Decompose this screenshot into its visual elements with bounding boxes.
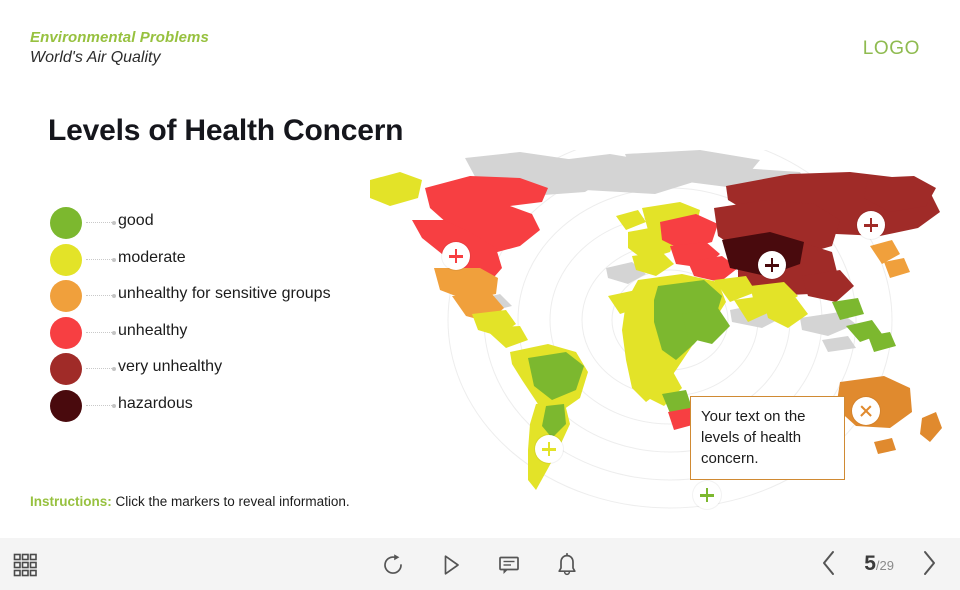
legend-swatch: [50, 280, 82, 312]
tooltip-text: Your text on the levels of health concer…: [701, 406, 834, 469]
page-title: Levels of Health Concern: [48, 114, 403, 148]
legend-item-moderate: moderate: [50, 242, 410, 279]
brand-subtitle: World's Air Quality: [30, 47, 209, 69]
map-marker-north-america[interactable]: [442, 242, 470, 270]
playback-controls: [378, 550, 582, 580]
slide-header: Environmental Problems World's Air Quali…: [0, 0, 960, 90]
legend-item-good: good: [50, 205, 410, 242]
legend-swatch: [50, 353, 82, 385]
legend-swatch: [50, 390, 82, 422]
legend-item-label: unhealthy: [118, 322, 187, 340]
legend-connector: [86, 405, 112, 407]
legend-swatch: [50, 317, 82, 349]
instructions-label: Instructions:: [30, 494, 112, 509]
bell-icon[interactable]: [552, 550, 582, 580]
brand-block: Environmental Problems World's Air Quali…: [30, 28, 209, 69]
brand-title: Environmental Problems: [30, 28, 209, 47]
map-marker-south-america[interactable]: [535, 435, 563, 463]
map-marker-russia[interactable]: [857, 211, 885, 239]
play-icon[interactable]: [436, 550, 466, 580]
bottom-toolbar: 5/29: [0, 538, 960, 590]
legend-item-label: unhealthy for sensitive groups: [118, 285, 331, 303]
instructions: Instructions: Click the markers to revea…: [30, 493, 360, 511]
map-marker-africa[interactable]: [693, 481, 721, 509]
legend-connector: [86, 368, 112, 370]
legend-item-hazardous: hazardous: [50, 388, 410, 425]
logo: LOGO: [863, 38, 920, 60]
page-indicator: 5/29: [864, 553, 894, 574]
instructions-text: Click the markers to reveal information.: [112, 494, 350, 509]
legend-item-unhealthy-sensitive: unhealthy for sensitive groups: [50, 278, 410, 315]
legend-item-unhealthy: unhealthy: [50, 315, 410, 352]
legend-connector: [86, 259, 112, 261]
legend-item-label: hazardous: [118, 395, 193, 413]
legend-swatch: [50, 207, 82, 239]
grid-menu-icon[interactable]: [12, 552, 38, 578]
legend-item-label: good: [118, 212, 154, 230]
comment-icon[interactable]: [494, 550, 524, 580]
legend: good moderate unhealthy for sensitive gr…: [50, 205, 410, 424]
legend-item-very-unhealthy: very unhealthy: [50, 351, 410, 388]
world-map: [370, 150, 960, 510]
next-page-button[interactable]: [916, 548, 942, 578]
legend-item-label: very unhealthy: [118, 358, 222, 376]
tooltip-popup: Your text on the levels of health concer…: [690, 396, 845, 480]
legend-connector: [86, 332, 112, 334]
replay-icon[interactable]: [378, 550, 408, 580]
map-marker-australia-close-icon[interactable]: [852, 397, 880, 425]
map-marker-china[interactable]: [758, 251, 786, 279]
page-total: /29: [876, 558, 894, 573]
legend-connector: [86, 222, 112, 224]
legend-item-label: moderate: [118, 249, 186, 267]
legend-connector: [86, 295, 112, 297]
legend-swatch: [50, 244, 82, 276]
page-current: 5: [864, 552, 876, 575]
pager: 5/29: [816, 548, 942, 578]
world-map-svg: [370, 150, 960, 510]
prev-page-button[interactable]: [816, 548, 842, 578]
